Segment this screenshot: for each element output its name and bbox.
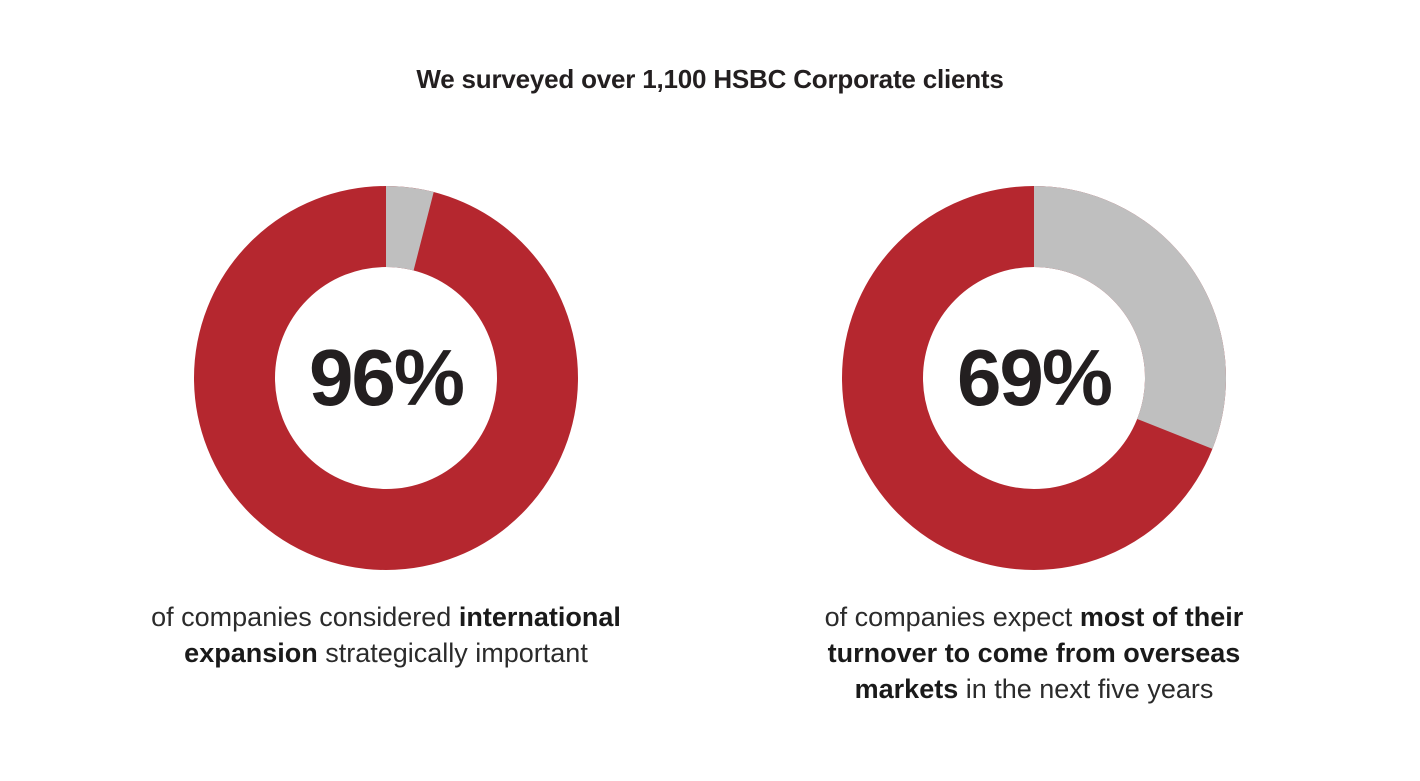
page-title: We surveyed over 1,100 HSBC Corporate cl… [0, 64, 1420, 95]
stat-block-international-expansion: 96% of companies considered internationa… [62, 170, 710, 672]
caption-text-plain-2: in the next five years [958, 674, 1213, 704]
caption-text-plain-2: strategically important [318, 638, 588, 668]
caption-text-plain: of companies expect [825, 602, 1080, 632]
caption-text-plain: of companies considered [151, 602, 459, 632]
donut-segment-red-96 [235, 227, 538, 530]
stats-row: 96% of companies considered internationa… [0, 170, 1420, 708]
stat-caption-96: of companies considered international ex… [121, 600, 651, 672]
stat-caption-69: of companies expect most of their turnov… [799, 600, 1269, 708]
donut-chart-69: 69% [842, 186, 1226, 570]
stat-block-overseas-turnover: 69% of companies expect most of their tu… [710, 170, 1358, 708]
donut-svg-96 [194, 186, 578, 570]
donut-svg-69 [842, 186, 1226, 570]
donut-chart-96: 96% [194, 186, 578, 570]
infographic-page: We surveyed over 1,100 HSBC Corporate cl… [0, 0, 1420, 781]
